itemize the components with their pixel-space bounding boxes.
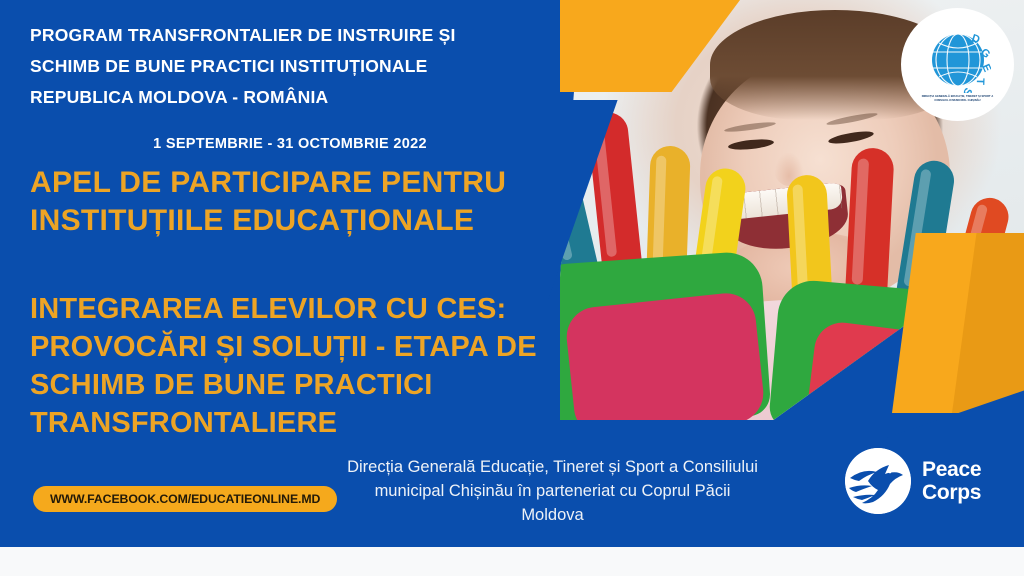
date-range: 1 SEPTEMBRIE - 31 OCTOMBRIE 2022	[30, 136, 550, 152]
globe-icon: D G E T S	[925, 27, 991, 93]
peace-corps-wordmark: Peace Corps	[922, 458, 981, 504]
program-header-line-3: REPUBLICA MOLDOVA - ROMÂNIA	[30, 82, 550, 113]
theme-title: INTEGRAREA ELEVILOR CU CES: PROVOCĂRI ȘI…	[30, 290, 640, 442]
peace-corps-logo: Peace Corps	[845, 448, 981, 514]
peace-corps-word-line-1: Peace	[922, 458, 981, 481]
bottom-white-strip	[0, 547, 1024, 576]
dove-icon	[845, 448, 911, 514]
partner-organizations-text: Direcția Generală Educație, Tineret și S…	[345, 455, 760, 527]
svg-text:D: D	[970, 33, 981, 47]
svg-text:T: T	[973, 78, 985, 85]
dgets-logo: D G E T S DIRECȚIA GENERALĂ EDUCAȚIE, TI…	[901, 8, 1014, 121]
globe-icon-svg: D G E T S	[925, 27, 991, 93]
svg-text:S: S	[960, 86, 974, 93]
dgets-logo-caption: DIRECȚIA GENERALĂ EDUCAȚIE, TINERET ȘI S…	[915, 95, 1001, 102]
facebook-url-badge[interactable]: WWW.FACEBOOK.COM/EDUCATIEONLINE.MD	[33, 486, 337, 512]
dove-icon-svg	[845, 448, 911, 514]
program-header-line-2: SCHIMB DE BUNE PRACTICI INSTITUȚIONALE	[30, 51, 550, 82]
program-header: PROGRAM TRANSFRONTALIER DE INSTRUIRE ȘI …	[30, 20, 550, 113]
facebook-url-text: WWW.FACEBOOK.COM/EDUCATIEONLINE.MD	[50, 492, 320, 506]
program-header-line-1: PROGRAM TRANSFRONTALIER DE INSTRUIRE ȘI	[30, 20, 550, 51]
call-title: APEL DE PARTICIPARE PENTRU INSTITUȚIILE …	[30, 164, 590, 240]
peace-corps-word-line-2: Corps	[922, 481, 981, 504]
promotional-poster: PROGRAM TRANSFRONTALIER DE INSTRUIRE ȘI …	[0, 0, 1024, 576]
